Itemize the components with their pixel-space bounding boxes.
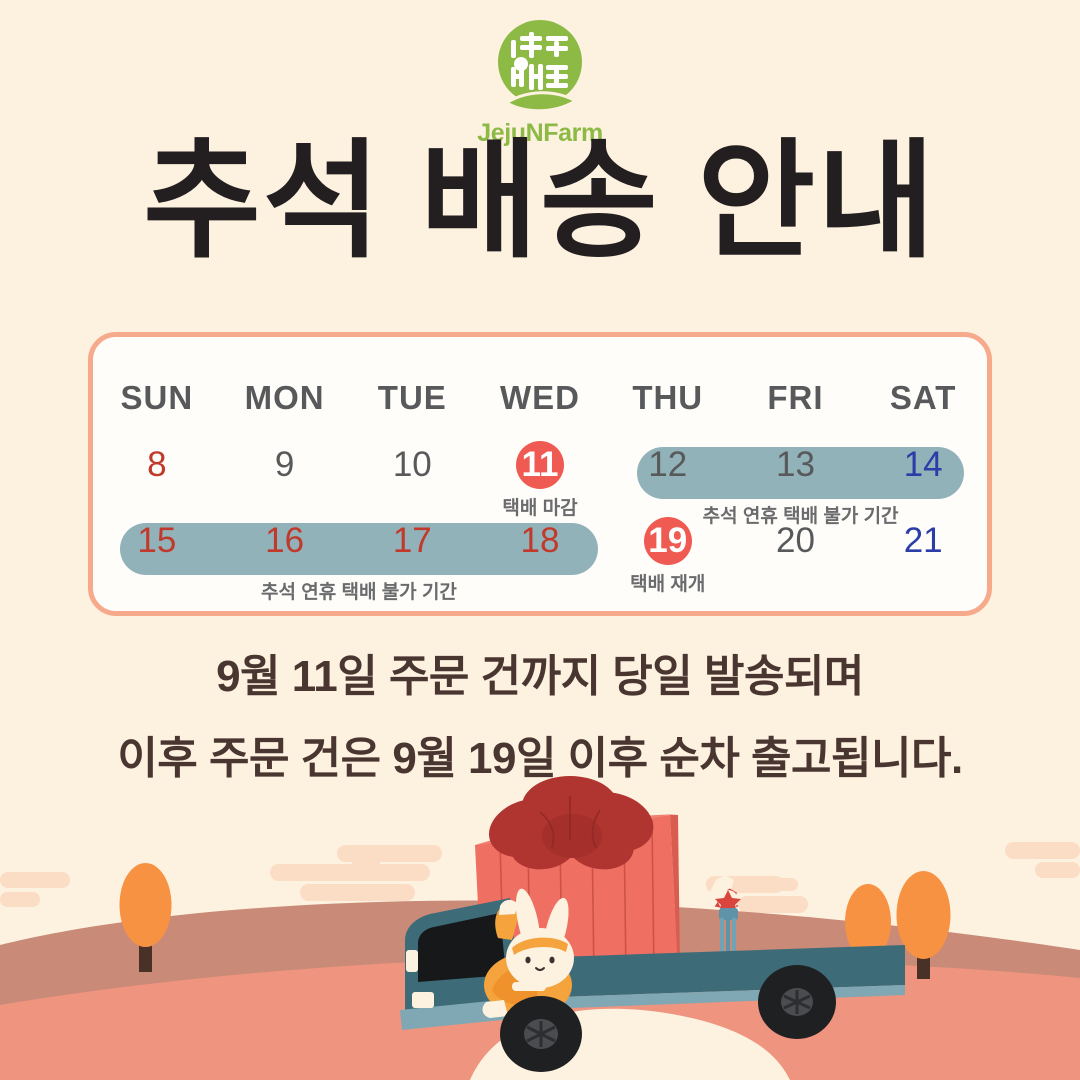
holiday-band-caption-row-2: 추석 연휴 택배 불가 기간 (120, 577, 598, 604)
day-number: 14 (899, 441, 947, 489)
weekday-wed: WED (476, 379, 604, 417)
weekday-tue: TUE (348, 379, 476, 417)
calendar-row-2: 15 16 17 18 19 택배 재개 20 (93, 517, 987, 613)
calendar-day-8[interactable]: 8 (93, 441, 221, 489)
day-number: 17 (388, 517, 436, 565)
day-number-highlighted: 11 (516, 441, 564, 489)
day-caption-deadline: 택배 마감 (502, 493, 577, 520)
weekday-sat: SAT (859, 379, 987, 417)
day-number: 8 (133, 441, 181, 489)
calendar-day-9[interactable]: 9 (221, 441, 349, 489)
calendar-day-15[interactable]: 15 (93, 517, 221, 565)
day-number: 9 (261, 441, 309, 489)
day-caption-resume: 택배 재개 (630, 569, 705, 596)
weekday-mon: MON (221, 379, 349, 417)
truck-wheel-rear (758, 965, 836, 1039)
description-line-2: 이후 주문 건은 9월 19일 이후 순차 출고됩니다. (0, 722, 1080, 786)
calendar-day-10[interactable]: 10 (348, 441, 476, 489)
page-title: 추석 배송 안내 (0, 138, 1080, 266)
description-line-1: 9월 11일 주문 건까지 당일 발송되며 (0, 640, 1080, 704)
jeju-n-farm-circle-logo-icon (488, 18, 592, 118)
day-number: 16 (261, 517, 309, 565)
weekday-fri: FRI (732, 379, 860, 417)
day-number: 18 (516, 517, 564, 565)
delivery-calendar-card: SUN MON TUE WED THU FRI SAT 8 9 10 (88, 332, 992, 616)
calendar-day-12[interactable]: 12 (604, 441, 732, 489)
weekday-sun: SUN (93, 379, 221, 417)
calendar-day-16[interactable]: 16 (221, 517, 349, 565)
day-number: 10 (388, 441, 436, 489)
holiday-band-caption-row-1: 추석 연휴 택배 불가 기간 (637, 501, 963, 528)
day-number: 13 (771, 441, 819, 489)
day-number: 12 (644, 441, 692, 489)
calendar-weekday-header: SUN MON TUE WED THU FRI SAT (93, 379, 987, 417)
brand-logo: JejuNFarm (0, 18, 1080, 148)
weekday-thu: THU (604, 379, 732, 417)
truck-wheel-front (500, 996, 582, 1072)
calendar-day-17[interactable]: 17 (348, 517, 476, 565)
calendar-day-11[interactable]: 11 택배 마감 (476, 441, 604, 489)
day-number: 15 (133, 517, 181, 565)
calendar-day-14[interactable]: 14 (859, 441, 987, 489)
calendar-day-13[interactable]: 13 (732, 441, 860, 489)
poster-root: JejuNFarm 추석 배송 안내 SUN MON TUE WED THU F… (0, 0, 1080, 1080)
calendar-day-18[interactable]: 18 (476, 517, 604, 565)
shipping-description: 9월 11일 주문 건까지 당일 발송되며 이후 주문 건은 9월 19일 이후… (0, 640, 1080, 804)
